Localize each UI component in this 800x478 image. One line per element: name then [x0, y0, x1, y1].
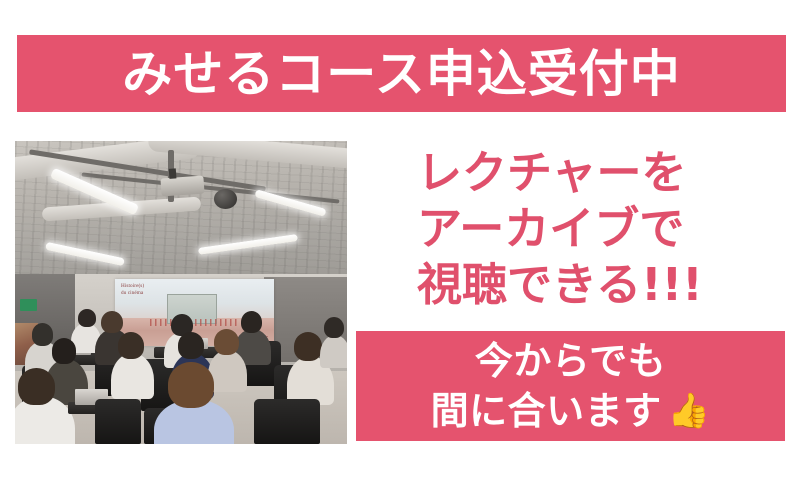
- cta-line-2-text: 間に合います: [431, 386, 662, 436]
- attendee-head: [52, 338, 77, 364]
- cta-line-2: 間に合います 👍: [431, 386, 711, 436]
- exit-sign-icon: [20, 299, 37, 311]
- lead-heading: レクチャーを アーカイブで 視聴できる!!!: [417, 145, 787, 313]
- cta-box: 今からでも 間に合います 👍: [356, 331, 785, 441]
- attendee-head: [118, 332, 145, 359]
- attendee-head: [214, 329, 239, 355]
- lecture-room-photo: Histoire(s)du cinéma Jean-Luc Godard: [15, 141, 347, 444]
- attendee-head: [168, 362, 214, 407]
- thumbs-up-icon: 👍: [668, 394, 711, 428]
- attendee: [320, 335, 347, 368]
- attendee-head: [241, 311, 263, 334]
- cta-line-1-text: 今からでも: [475, 336, 666, 386]
- header-banner: みせるコース申込受付中: [17, 35, 786, 112]
- chair: [254, 399, 320, 444]
- slide-crowd: [150, 319, 239, 326]
- attendee-head: [178, 332, 205, 359]
- attendee-head: [18, 368, 55, 404]
- promo-poster: みせるコース申込受付中: [0, 0, 800, 478]
- photo-scene: Histoire(s)du cinéma Jean-Luc Godard: [15, 141, 347, 444]
- slide-title-line1: Histoire(s): [121, 283, 144, 289]
- presenter-head: [78, 309, 96, 327]
- attendee-head: [324, 317, 344, 338]
- attendee-head: [294, 332, 322, 361]
- attendee-head: [32, 323, 54, 346]
- header-banner-title: みせるコース申込受付中: [122, 49, 681, 99]
- slide-title-line2: du cinéma: [121, 290, 143, 296]
- slide-title: Histoire(s)du cinéma: [121, 283, 144, 297]
- projector: [160, 176, 204, 197]
- chair: [95, 399, 141, 444]
- attendee-head: [101, 311, 123, 334]
- cta-line-1: 今からでも: [475, 336, 666, 386]
